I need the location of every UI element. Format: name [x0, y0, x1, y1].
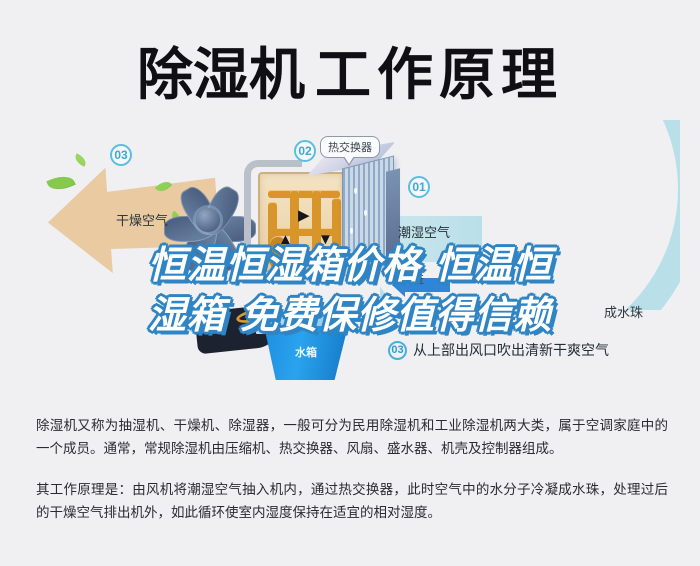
condensation-label: 成水珠 [604, 302, 643, 321]
page-title: 除湿机工作原理 [0, 30, 700, 111]
leaf-icon [46, 172, 75, 195]
water-droplet-icon [364, 210, 367, 216]
water-droplet-icon [350, 228, 353, 234]
fan-hub [196, 208, 220, 232]
paragraph-1: 除湿机又称为抽湿机、干燥机、除湿器，一般可分为民用除湿机和工业除湿机两大类，属于… [36, 415, 668, 461]
step-3-caption: 03 从上部出风口吹出清新干爽空气 [388, 340, 609, 360]
page-title-part1: 除湿机 [137, 43, 305, 108]
step-badge-03: 03 [110, 144, 132, 166]
flow-arrow-right-icon: ▶ [298, 208, 310, 223]
copper-pipe [268, 190, 340, 198]
step-badge-03-caption: 03 [388, 341, 407, 360]
leaf-icon [73, 153, 88, 166]
copper-pipe [312, 190, 321, 264]
humid-air-label: 潮湿空气 [398, 222, 450, 241]
water-tank: 水箱 [258, 314, 354, 386]
copper-pipe [332, 198, 341, 264]
water-droplet-icon [358, 254, 361, 260]
copper-pipe [290, 190, 299, 264]
occluded-inlet-label: 由进 [400, 270, 424, 287]
water-tank-label: 水箱 [258, 344, 354, 360]
flow-arrow-down-icon: ▼ [318, 232, 333, 247]
paragraph-2: 其工作原理是：由风机将潮湿空气抽入机内，通过热交换器，此时空气中的水分子冷凝成水… [36, 479, 668, 525]
page-title-part2: 工作原理 [315, 43, 563, 108]
heat-exchanger-callout: 热交换器 [320, 136, 380, 158]
step-badge-01: 01 [408, 176, 430, 198]
water-droplet-icon [354, 188, 357, 194]
step-badge-02: 02 [294, 140, 316, 162]
water-droplet-icon [372, 242, 375, 248]
body-copy: 除湿机又称为抽湿机、干燥机、除湿器，一般可分为民用除湿机和工业除湿机两大类，属于… [36, 415, 668, 525]
promotional-image: 除湿机工作原理 [0, 0, 700, 566]
dehumidifier-diagram: ▲ ▼ ▶ 水箱 03 干燥空气 02 热交换器 01 [0, 118, 700, 386]
flow-arrow-up-icon: ▲ [278, 232, 293, 247]
step-3-text: 从上部出风口吹出清新干爽空气 [413, 340, 609, 360]
dry-air-label: 干燥空气 [116, 210, 168, 229]
compressor-housing: ▲ ▼ ▶ [258, 172, 346, 272]
